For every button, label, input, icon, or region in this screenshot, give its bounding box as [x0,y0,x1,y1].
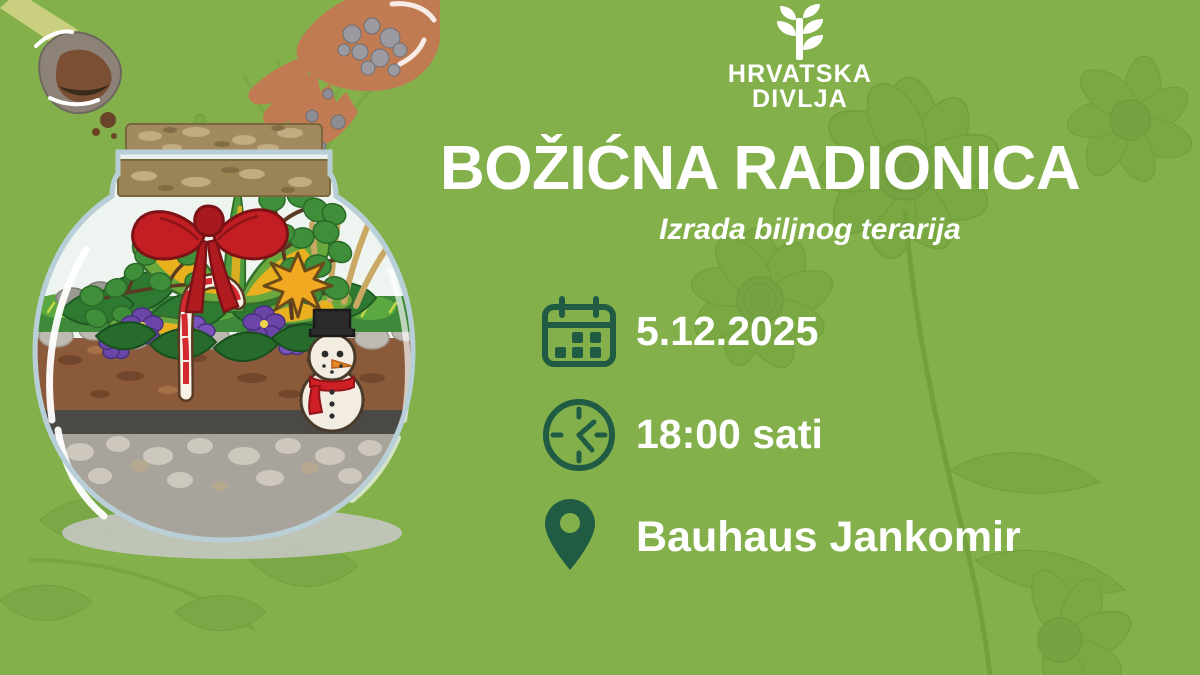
calendar-icon [540,295,636,369]
event-time-value: 18:00 sati [636,414,823,455]
event-date-row: 5.12.2025 [540,280,1180,383]
event-details: 5.12.2025 18:00 sa [540,280,1180,589]
brand-logo: HRVATSKA DIVLJA [710,4,890,112]
map-pin-icon [540,497,636,579]
event-time-row: 18:00 sati [540,383,1180,486]
christmas-terrarium-illustration [0,0,470,600]
clock-icon [540,396,636,474]
plant-sprig-icon [772,4,828,60]
event-location-row: Bauhaus Jankomir [540,486,1180,589]
poster-canvas: HRVATSKA DIVLJA BOŽIĆNA RADIONICA Izrada… [0,0,1200,675]
logo-line-2: DIVLJA [728,87,872,112]
cork-lid [118,124,330,196]
event-location-value: Bauhaus Jankomir [636,516,1021,559]
event-date-value: 5.12.2025 [636,311,818,352]
logo-wordmark: HRVATSKA DIVLJA [728,62,872,111]
page-subtitle: Izrada biljnog terarija [440,213,1180,247]
logo-line-1: HRVATSKA [728,62,872,87]
page-title: BOŽIĆNA RADIONICA [440,138,1180,200]
trowel-icon [0,0,121,139]
